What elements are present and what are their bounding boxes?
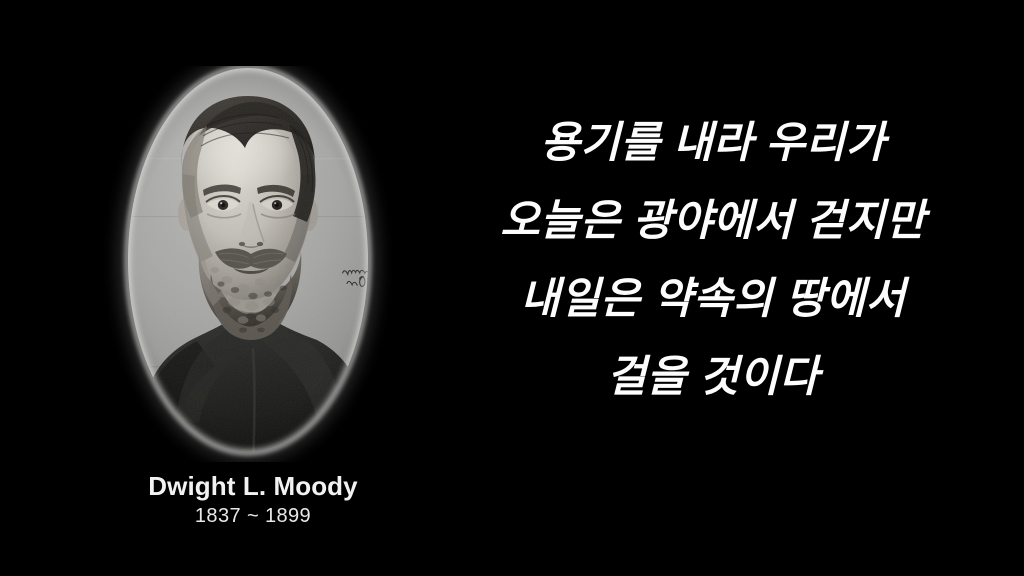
portrait-block [103, 66, 393, 462]
person-name: Dwight L. Moody [103, 472, 403, 500]
portrait-caption: Dwight L. Moody 1837 ~ 1899 [103, 472, 403, 527]
person-lifespan-dates: 1837 ~ 1899 [103, 505, 403, 527]
oval-portrait-photo [103, 66, 393, 462]
quote-text-block: 용기를 내라 우리가 오늘은 광야에서 걷지만 내일은 약속의 땅에서 걸을 것… [440, 104, 986, 416]
quote-slide: Dwight L. Moody 1837 ~ 1899 용기를 내라 우리가 오… [0, 0, 1024, 576]
quote-line-2: 오늘은 광야에서 걷지만 [440, 182, 986, 260]
quote-line-1: 용기를 내라 우리가 [440, 104, 986, 182]
portrait-image [103, 66, 393, 462]
quote-line-3: 내일은 약속의 땅에서 [440, 260, 986, 338]
quote-line-4: 걸을 것이다 [440, 338, 986, 416]
